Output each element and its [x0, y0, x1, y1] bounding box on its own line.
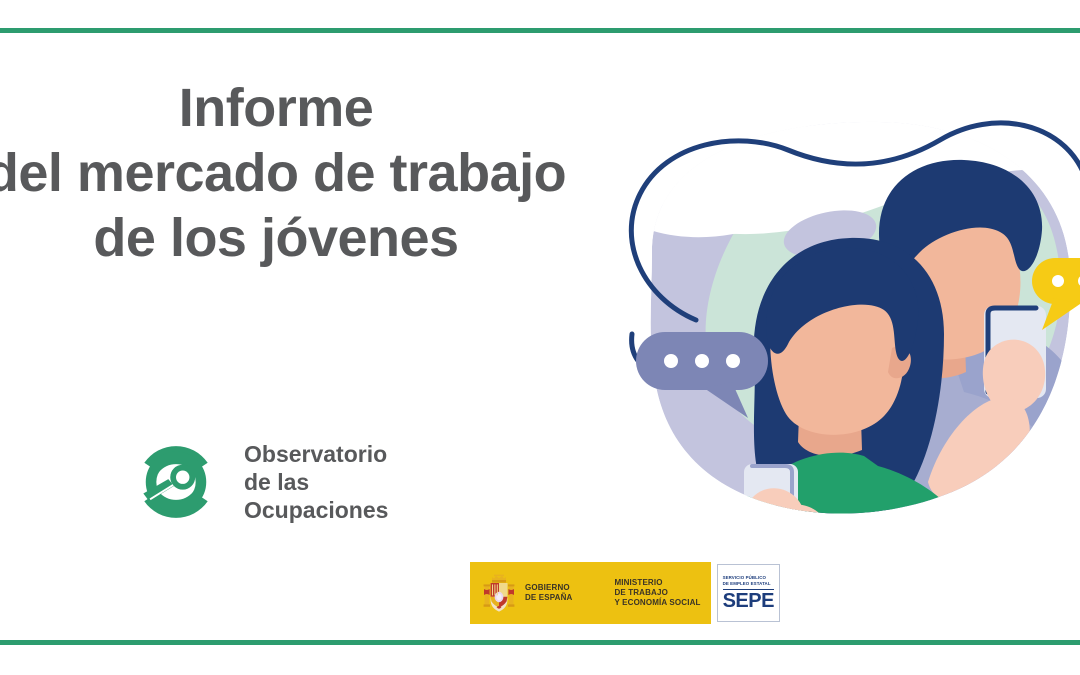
observatorio-mark-icon	[128, 434, 224, 530]
ministerio-line-2: DE TRABAJO	[614, 588, 700, 598]
blob-lavender	[602, 102, 1080, 548]
government-logo-bar: GOBIERNO DE ESPAÑA MINISTERIO DE TRABAJO…	[470, 562, 780, 624]
top-green-rule	[0, 28, 1080, 33]
observatorio-line-2: de las	[244, 468, 388, 496]
page-title: Informe del mercado de trabajo de los jó…	[0, 76, 586, 270]
ministerio-text: MINISTERIO DE TRABAJO Y ECONOMÍA SOCIAL	[614, 578, 700, 609]
title-line-2: del mercado de trabajo	[0, 141, 586, 206]
observatorio-line-1: Observatorio	[244, 440, 388, 468]
ministerio-line-1: MINISTERIO	[614, 578, 700, 588]
sepe-full-name: SERVICIO PÚBLICO DE EMPLEO ESTATAL	[723, 575, 774, 587]
sepe-logo: SERVICIO PÚBLICO DE EMPLEO ESTATAL SEPE	[717, 564, 780, 622]
observatorio-line-3: Ocupaciones	[244, 496, 388, 524]
gobierno-de-espana-text: GOBIERNO DE ESPAÑA	[525, 583, 572, 603]
observatorio-logo-lockup: Observatorio de las Ocupaciones	[128, 434, 388, 530]
report-cover: Informe del mercado de trabajo de los jó…	[0, 0, 1080, 675]
bottom-green-rule	[0, 640, 1080, 645]
gobierno-ministerio-block: GOBIERNO DE ESPAÑA MINISTERIO DE TRABAJO…	[470, 562, 711, 624]
title-line-3: de los jóvenes	[0, 206, 586, 271]
title-line-1: Informe	[0, 76, 586, 141]
spain-coat-of-arms-icon	[482, 571, 516, 615]
observatorio-wordmark: Observatorio de las Ocupaciones	[244, 440, 388, 524]
sepe-name-line-2: DE EMPLEO ESTATAL	[723, 581, 774, 587]
sepe-acronym: SEPE	[723, 591, 774, 611]
gobierno-line-2: DE ESPAÑA	[525, 593, 572, 603]
gobierno-line-1: GOBIERNO	[525, 583, 572, 593]
ministerio-line-3: Y ECONOMÍA SOCIAL	[614, 598, 700, 608]
cover-illustration	[592, 62, 1080, 548]
